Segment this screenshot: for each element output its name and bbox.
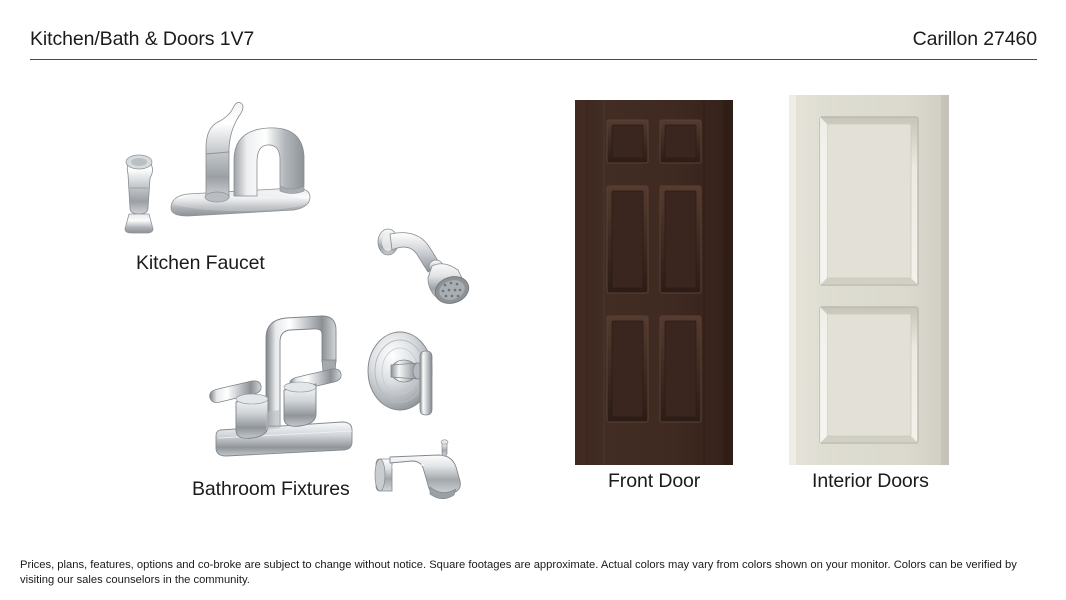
- shower-head-icon: [368, 220, 480, 315]
- tub-spout-icon: [368, 437, 480, 517]
- kitchen-faucet-icon: [108, 96, 338, 241]
- page-title: Kitchen/Bath & Doors 1V7: [30, 28, 254, 51]
- front-door-image: [575, 100, 733, 465]
- front-door-label: Front Door: [608, 470, 700, 493]
- header-divider: [30, 59, 1037, 60]
- shower-valve-trim-icon: [352, 325, 467, 420]
- bathroom-fixtures-label: Bathroom Fixtures: [192, 478, 350, 501]
- community-name: Carillon 27460: [913, 28, 1037, 51]
- page-header: Kitchen/Bath & Doors 1V7 Carillon 27460: [30, 28, 1037, 62]
- bathroom-faucet-icon: [196, 302, 366, 462]
- selections-board: Kitchen Faucet: [0, 70, 1066, 540]
- disclaimer-text: Prices, plans, features, options and co-…: [20, 558, 1046, 588]
- kitchen-faucet-label: Kitchen Faucet: [136, 252, 265, 275]
- interior-doors-label: Interior Doors: [812, 470, 929, 493]
- interior-door-image: [789, 95, 949, 465]
